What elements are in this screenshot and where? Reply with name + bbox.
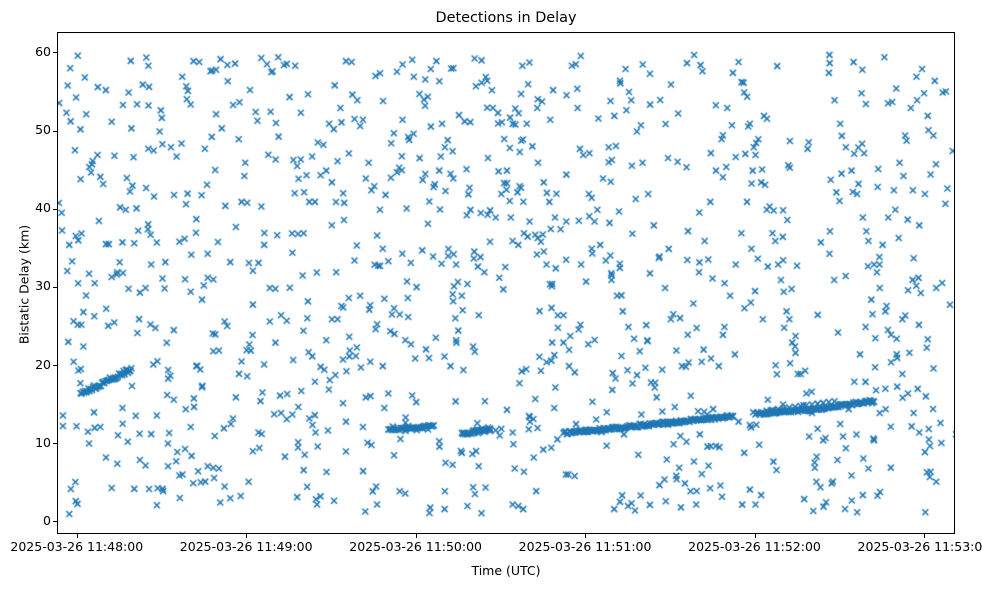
- x-tick-mark: [585, 534, 586, 538]
- x-axis-tick-labels: 2025-03-26 11:48:002025-03-26 11:49:0020…: [0, 0, 982, 590]
- matplotlib-figure: Detections in Delay 0102030405060 2025-0…: [0, 0, 982, 590]
- y-axis-label: Bistatic Delay (km): [17, 165, 32, 405]
- x-tick-mark: [755, 534, 756, 538]
- x-tick-label: 2025-03-26 11:49:00: [180, 540, 313, 553]
- x-tick-label: 2025-03-26 11:53:00: [858, 540, 982, 553]
- x-tick-mark: [246, 534, 247, 538]
- x-tick-mark: [416, 534, 417, 538]
- x-axis-label: Time (UTC): [57, 563, 955, 578]
- x-tick-mark: [77, 534, 78, 538]
- x-tick-label: 2025-03-26 11:51:00: [519, 540, 652, 553]
- x-tick-label: 2025-03-26 11:52:00: [688, 540, 821, 553]
- x-tick-mark: [924, 534, 925, 538]
- x-tick-label: 2025-03-26 11:50:00: [349, 540, 482, 553]
- x-tick-label: 2025-03-26 11:48:00: [10, 540, 143, 553]
